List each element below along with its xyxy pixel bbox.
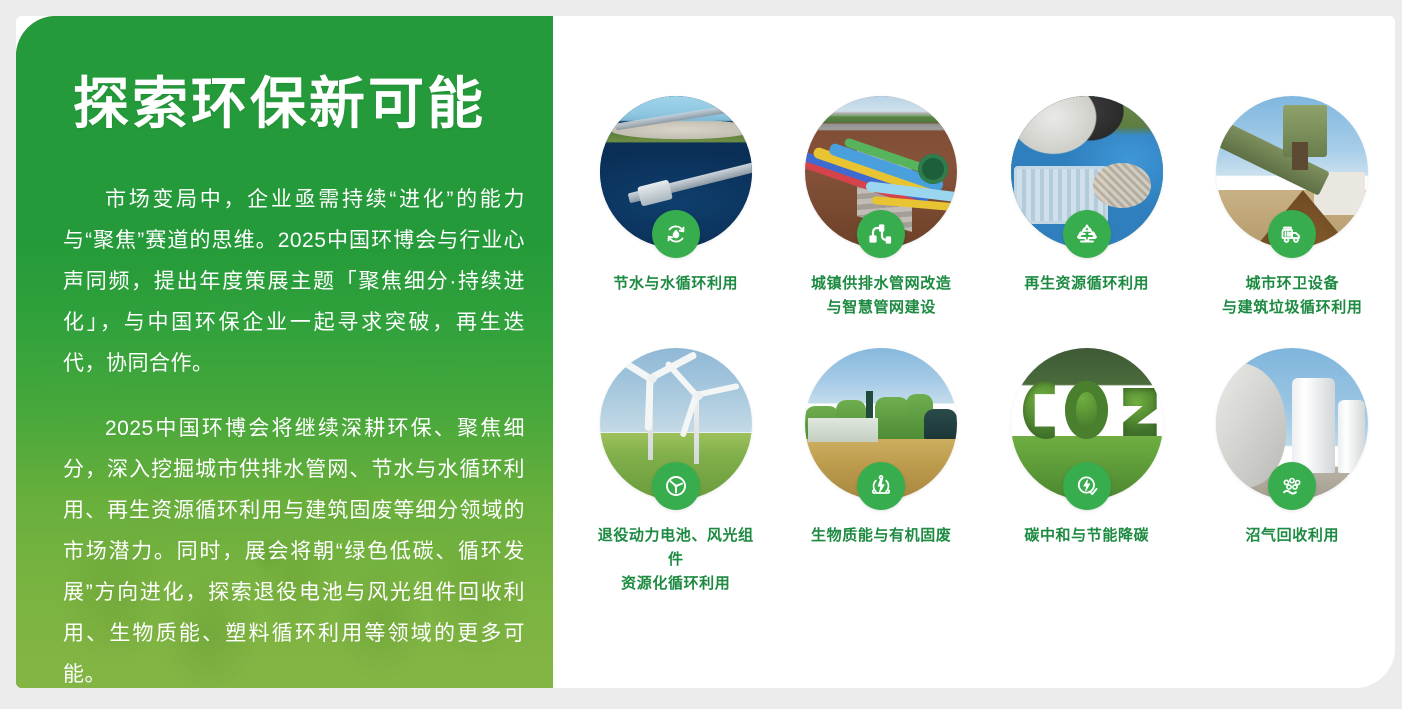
- topic-thumbnail-wrap: [805, 348, 957, 500]
- topic-thumbnail-wrap: [805, 96, 957, 248]
- topics-grid: 节水与水循环利用: [573, 96, 1395, 596]
- garbage-truck-icon: [1268, 210, 1316, 258]
- water-drop-recycle-icon: [652, 210, 700, 258]
- topic-card-pipe-network[interactable]: 城镇供排水管网改造与智慧管网建设: [779, 96, 985, 320]
- topic-card-carbon-neutrality[interactable]: 碳中和与节能降碳: [984, 348, 1190, 596]
- bolt-check-icon: [1063, 462, 1111, 510]
- topics-panel: 节水与水循环利用: [553, 16, 1395, 688]
- topic-card-biogas-recovery[interactable]: 沼气回收利用: [1190, 348, 1396, 596]
- topic-label: 再生资源循环利用: [1002, 272, 1172, 296]
- topic-thumbnail-wrap: [600, 96, 752, 248]
- topic-label: 沼气回收利用: [1207, 524, 1377, 548]
- bolt-recycle-icon: [857, 462, 905, 510]
- topic-card-sanitation-equipment[interactable]: 城市环卫设备与建筑垃圾循环利用: [1190, 96, 1396, 320]
- pipe-icon: [857, 210, 905, 258]
- hero-body: 市场变局中，企业亟需持续“进化”的能力与“聚焦”赛道的思维。2025中国环博会与…: [63, 179, 525, 688]
- wind-turbine-icon: [652, 462, 700, 510]
- hero-panel: 探索环保新可能 市场变局中，企业亟需持续“进化”的能力与“聚焦”赛道的思维。20…: [16, 16, 553, 688]
- topic-label: 城镇供排水管网改造与智慧管网建设: [796, 272, 966, 320]
- topic-card-battery-pv-recycling[interactable]: 退役动力电池、风光组件资源化循环利用: [573, 348, 779, 596]
- hero-paragraph-2: 2025中国环博会将继续深耕环保、聚焦细分，深入挖掘城市供排水管网、节水与水循环…: [63, 408, 525, 688]
- hero-paragraph-1: 市场变局中，企业亟需持续“进化”的能力与“聚焦”赛道的思维。2025中国环博会与…: [63, 179, 525, 384]
- topic-thumbnail-wrap: [1216, 348, 1368, 500]
- topic-thumbnail-wrap: [1011, 348, 1163, 500]
- topic-label: 节水与水循环利用: [591, 272, 761, 296]
- page-title: 探索环保新可能: [73, 72, 486, 136]
- topic-label: 退役动力电池、风光组件资源化循环利用: [591, 524, 761, 596]
- content-card: 探索环保新可能 市场变局中，企业亟需持续“进化”的能力与“聚焦”赛道的思维。20…: [16, 16, 1395, 688]
- topic-card-resource-recycling[interactable]: 再生资源循环利用: [984, 96, 1190, 320]
- recycle-triangle-icon: [1063, 210, 1111, 258]
- topic-thumbnail-wrap: [600, 348, 752, 500]
- topic-thumbnail-wrap: [1011, 96, 1163, 248]
- topic-card-water-saving[interactable]: 节水与水循环利用: [573, 96, 779, 320]
- bubbles-wave-icon: [1268, 462, 1316, 510]
- poster-page: 探索环保新可能 市场变局中，企业亟需持续“进化”的能力与“聚焦”赛道的思维。20…: [0, 0, 1402, 709]
- topic-label: 碳中和与节能降碳: [1002, 524, 1172, 548]
- topic-label: 生物质能与有机固废: [796, 524, 966, 548]
- topic-card-biomass-energy[interactable]: 生物质能与有机固废: [779, 348, 985, 596]
- topic-thumbnail-wrap: [1216, 96, 1368, 248]
- topic-label: 城市环卫设备与建筑垃圾循环利用: [1207, 272, 1377, 320]
